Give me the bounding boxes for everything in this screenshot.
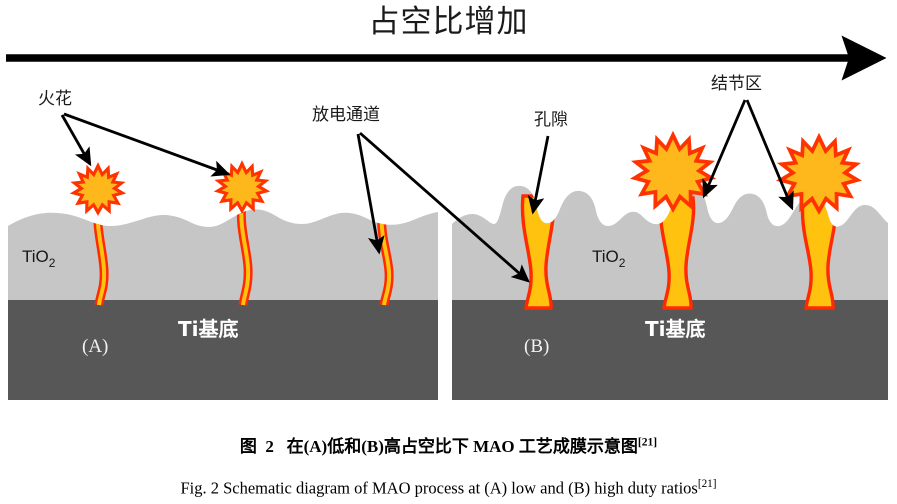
high-duty-ratio-panel: TiO2 Ti基底 (B) xyxy=(452,135,888,400)
caption-chinese: 图 2 在(A)低和(B)高占空比下 MAO 工艺成膜示意图[21] xyxy=(0,432,897,457)
panel-label-a: (A) xyxy=(82,336,108,357)
caption-chinese-number: 2 xyxy=(265,437,274,456)
annotation-nodular-zone: 结节区 xyxy=(704,74,792,208)
nodular-zone-leader-2-icon xyxy=(747,100,792,208)
mao-schematic-diagram: TiO2 Ti基底 (A) T xyxy=(0,0,897,420)
titanium-substrate-a xyxy=(8,300,438,400)
substrate-label-a: Ti基底 xyxy=(178,317,239,341)
spark-label: 火花 xyxy=(38,89,72,109)
caption-chinese-prefix: 图 xyxy=(240,437,257,456)
spark-leader-2-icon xyxy=(64,114,228,174)
caption-english: Fig. 2 Schematic diagram of MAO process … xyxy=(0,478,897,499)
low-duty-ratio-panel: TiO2 Ti基底 (A) xyxy=(8,164,438,400)
spark-b-2 xyxy=(781,137,858,211)
caption-chinese-text: 在(A)低和(B)高占空比下 MAO 工艺成膜示意图 xyxy=(287,437,638,456)
caption-english-ref: [21] xyxy=(698,478,717,490)
annotation-spark: 火花 xyxy=(38,89,228,174)
pore-label: 孔隙 xyxy=(534,110,568,130)
nodular-zone-leader-1-icon xyxy=(704,100,745,196)
panel-label-b: (B) xyxy=(524,336,549,357)
spark-a-2 xyxy=(218,164,267,211)
annotation-pore: 孔隙 xyxy=(533,110,568,212)
caption-chinese-ref: [21] xyxy=(638,435,657,448)
nodular-zone-label: 结节区 xyxy=(711,74,762,94)
figure-container: 占空比增加 xyxy=(0,0,897,504)
pore-leader-icon xyxy=(533,136,548,212)
substrate-label-b: Ti基底 xyxy=(645,317,706,341)
titanium-substrate-b xyxy=(452,300,888,400)
caption-english-text: Fig. 2 Schematic diagram of MAO process … xyxy=(180,479,697,498)
discharge-channel-label: 放电通道 xyxy=(312,105,380,125)
spark-a-1 xyxy=(74,166,123,213)
